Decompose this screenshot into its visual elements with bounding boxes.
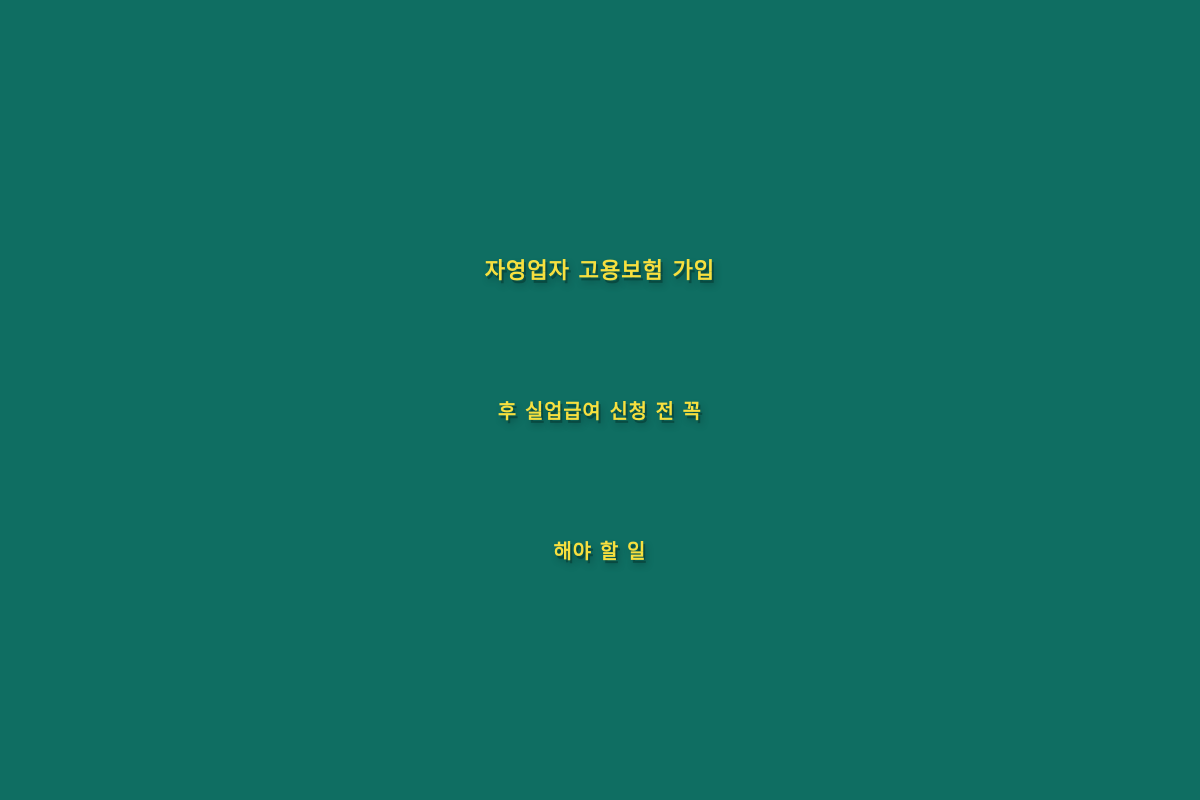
headline-line-2: 후 실업급여 신청 전 꼭 (80, 342, 1120, 482)
headline-line-1: 자영업자 고용보험 가입 (80, 202, 1120, 342)
headline-line-3: 해야 할 일 (80, 482, 1120, 622)
thumbnail-card: 자영업자 고용보험 가입 후 실업급여 신청 전 꼭 해야 할 일 (0, 0, 1200, 800)
headline-block: 자영업자 고용보험 가입 후 실업급여 신청 전 꼭 해야 할 일 (80, 202, 1120, 622)
